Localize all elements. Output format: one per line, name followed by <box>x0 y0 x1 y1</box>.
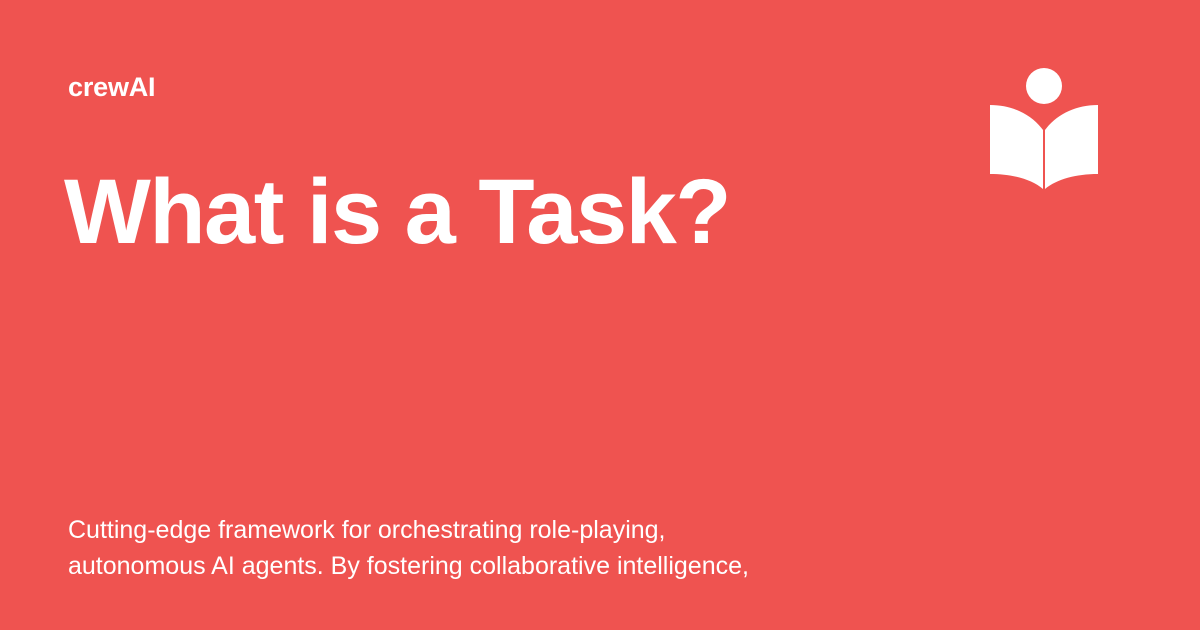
description-line: Cutting-edge framework for orchestrating… <box>68 512 918 548</box>
og-card: crewAI What is a Task? Cutting-edge fram… <box>0 0 1200 630</box>
page-title: What is a Task? <box>64 160 944 264</box>
open-book-reader-icon <box>986 62 1102 194</box>
description: Cutting-edge framework for orchestrating… <box>68 512 918 584</box>
description-line: autonomous AI agents. By fostering colla… <box>68 548 918 584</box>
brand-logo: crewAI <box>68 70 155 104</box>
